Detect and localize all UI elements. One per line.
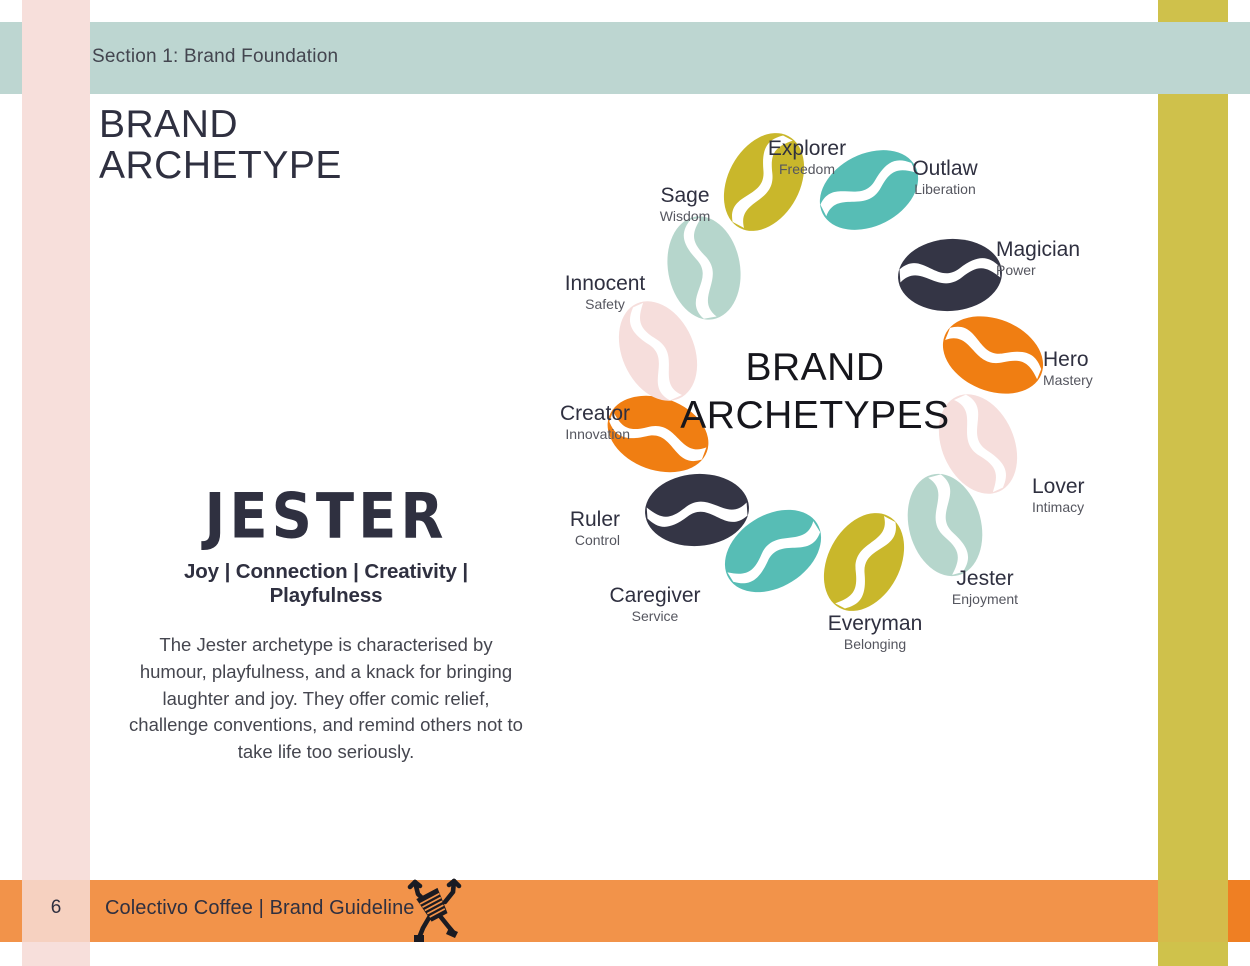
decorative-bar-pink-left-overlay <box>22 880 90 966</box>
dancing-coffee-cup-mascot-icon <box>404 874 462 944</box>
wheel-label-magician: Magician Power <box>996 238 1080 279</box>
label-name: Creator <box>480 402 630 426</box>
decorative-bar-olive-right-overlay <box>1158 880 1228 966</box>
label-name: Explorer <box>727 137 887 161</box>
wheel-label-creator: Creator Innovation <box>480 402 630 443</box>
bean-everyman <box>808 499 920 625</box>
label-trait: Service <box>570 608 740 626</box>
label-name: Magician <box>996 238 1080 262</box>
label-trait: Liberation <box>865 181 1025 199</box>
wheel-label-lover: Lover Intimacy <box>1032 475 1085 516</box>
label-trait: Power <box>996 262 1080 280</box>
archetype-keywords: Joy | Connection | Creativity | Playfuln… <box>126 560 526 608</box>
wheel-label-sage: Sage Wisdom <box>625 184 745 225</box>
label-name: Lover <box>1032 475 1085 499</box>
label-name: Ruler <box>500 508 620 532</box>
label-trait: Intimacy <box>1032 499 1085 517</box>
wheel-label-ruler: Ruler Control <box>500 508 620 549</box>
bean-magician <box>896 235 1005 314</box>
archetype-name: JESTER <box>126 486 526 549</box>
archetype-description: The Jester archetype is characterised by… <box>126 632 526 766</box>
label-trait: Freedom <box>727 161 887 179</box>
footer-text: Colectivo Coffee | Brand Guideline <box>105 897 415 920</box>
label-name: Everyman <box>795 612 955 636</box>
footer-band-right-tip <box>1228 880 1250 942</box>
label-trait: Belonging <box>795 636 955 654</box>
wheel-label-hero: Hero Mastery <box>1043 348 1093 389</box>
wheel-label-everyman: Everyman Belonging <box>795 612 955 653</box>
label-name: Jester <box>915 567 1055 591</box>
label-trait: Mastery <box>1043 372 1093 390</box>
page-title: BRAND ARCHETYPE <box>99 104 342 187</box>
page-title-line1: BRAND <box>99 103 238 146</box>
label-trait: Safety <box>530 296 680 314</box>
slide-canvas: Section 1: Brand Foundation BRAND ARCHET… <box>0 0 1250 966</box>
label-name: Sage <box>625 184 745 208</box>
section-label: Section 1: Brand Foundation <box>92 46 338 68</box>
footer-page-number: 6 <box>22 897 90 919</box>
label-trait: Enjoyment <box>915 591 1055 609</box>
wheel-label-explorer: Explorer Freedom <box>727 137 887 178</box>
wheel-label-caregiver: Caregiver Service <box>570 584 740 625</box>
label-name: Outlaw <box>865 157 1025 181</box>
brand-archetype-wheel: BRAND ARCHETYPES Explorer Freedom Outlaw… <box>520 120 1110 680</box>
label-trait: Control <box>500 532 620 550</box>
label-name: Caregiver <box>570 584 740 608</box>
bean-hero <box>931 302 1054 408</box>
decorative-bar-pink-left <box>22 0 90 966</box>
page-title-line2: ARCHETYPE <box>99 145 342 186</box>
wheel-label-jester: Jester Enjoyment <box>915 567 1055 608</box>
label-name: Hero <box>1043 348 1093 372</box>
decorative-bar-olive-right <box>1158 0 1228 966</box>
label-name: Innocent <box>530 272 680 296</box>
archetype-panel: JESTER Joy | Connection | Creativity | P… <box>126 486 526 766</box>
label-trait: Innovation <box>480 426 630 444</box>
wheel-label-innocent: Innocent Safety <box>530 272 680 313</box>
label-trait: Wisdom <box>625 208 745 226</box>
wheel-label-outlaw: Outlaw Liberation <box>865 157 1025 198</box>
